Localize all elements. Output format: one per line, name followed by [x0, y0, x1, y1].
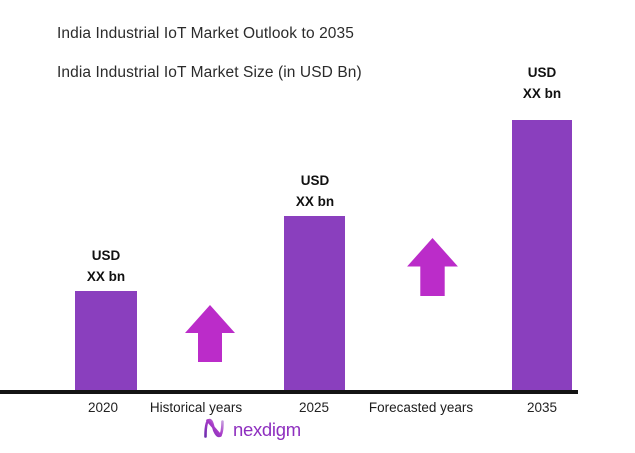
- bar-2035: [512, 120, 572, 391]
- chart-canvas: India Industrial IoT Market Outlook to 2…: [0, 0, 635, 453]
- x-tick-forecasted-years: Forecasted years: [358, 400, 484, 415]
- x-axis-line: [0, 390, 578, 394]
- nexdigm-logo: nexdigm: [201, 415, 301, 446]
- forecast-growth-arrow: [406, 237, 459, 298]
- plot-area: USD XX bn USD XX bn USD XX bn: [0, 0, 635, 453]
- x-tick-historical-years: Historical years: [136, 400, 256, 415]
- bar-2020: [75, 291, 137, 391]
- bar-label-2020: USD XX bn: [56, 246, 156, 288]
- x-tick-2020: 2020: [63, 400, 143, 415]
- historical-growth-arrow: [184, 304, 236, 364]
- bar-label-2035: USD XX bn: [492, 63, 592, 105]
- bar-2025: [284, 216, 345, 391]
- bar-label-2035-line2: XX bn: [492, 84, 592, 105]
- bar-label-2020-line1: USD: [56, 246, 156, 267]
- bar-label-2025-line2: XX bn: [265, 192, 365, 213]
- bar-label-2025-line1: USD: [265, 171, 365, 192]
- nexdigm-wordmark: nexdigm: [233, 421, 301, 440]
- x-tick-2035: 2035: [502, 400, 582, 415]
- bar-label-2035-line1: USD: [492, 63, 592, 84]
- bar-label-2020-line2: XX bn: [56, 267, 156, 288]
- nexdigm-wave-n-icon: [201, 415, 227, 446]
- x-tick-2025: 2025: [274, 400, 354, 415]
- bar-label-2025: USD XX bn: [265, 171, 365, 213]
